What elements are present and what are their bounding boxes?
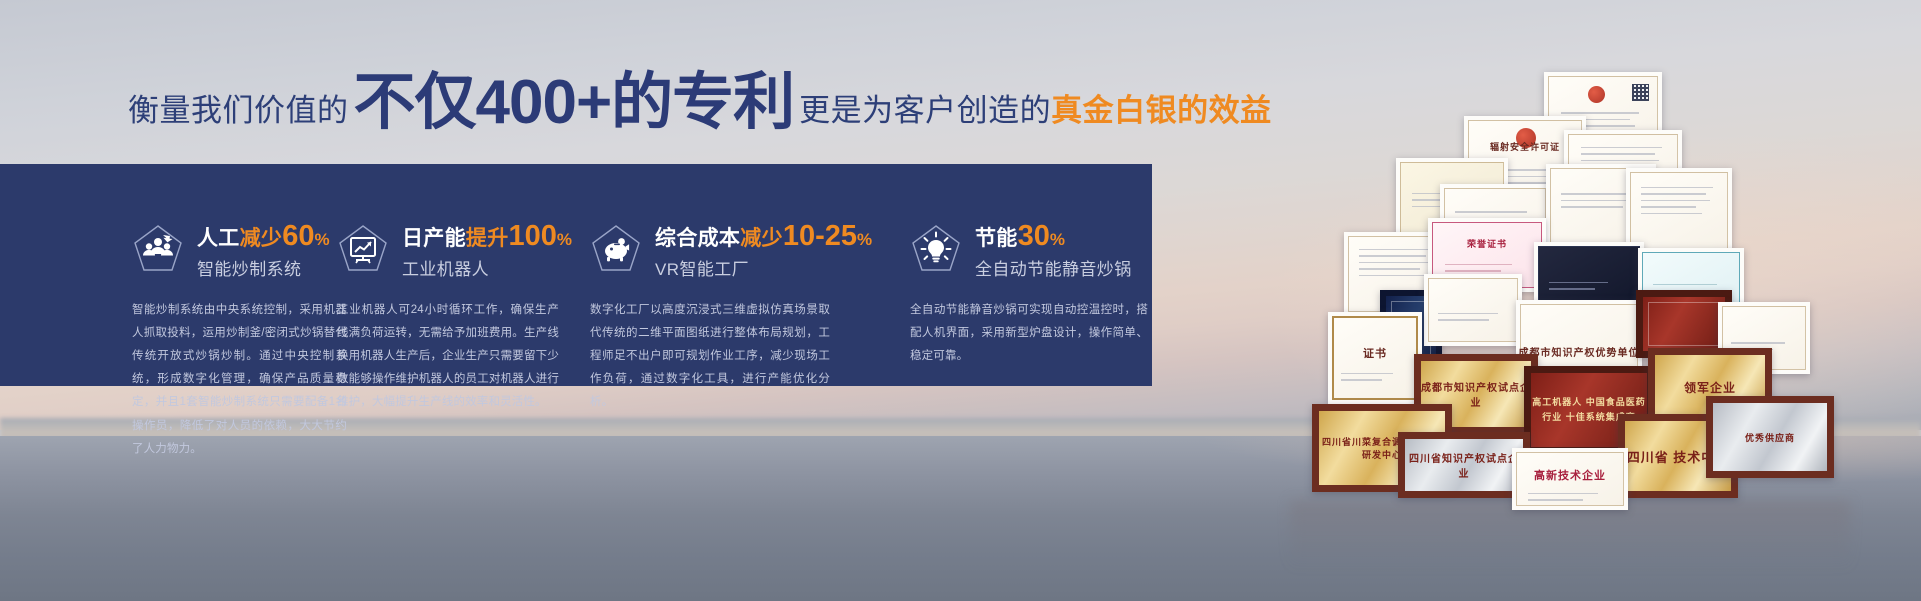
certificate-item: 证书 [1328, 312, 1422, 404]
feature-card-text: 日产能提升100% 工业机器人 [402, 218, 572, 281]
feature-title-mid: 减少 [740, 227, 783, 250]
feature-title-number: 10-25 [783, 220, 857, 252]
headline-highlight: 真金白银的效益 [1051, 85, 1272, 130]
feature-title-main: 人工 [197, 227, 240, 250]
award-plaque: 四川省知识产权试点企业 [1398, 432, 1530, 498]
feature-card-header: 综合成本减少10-25% VR智能工厂 [590, 218, 870, 281]
certificate-wall-reflection [1290, 500, 1850, 570]
feature-card-list: 人工减少60% 智能炒制系统 智能炒制系统由中央系统控制，采用机器人抓取投料，运… [0, 164, 1152, 386]
feature-title-main: 日产能 [402, 227, 466, 250]
feature-card: 节能30% 全自动节能静音炒锅 全自动节能静音炒锅可实现自动控温控时，搭配人机界… [870, 218, 1152, 386]
feature-card-body: 全自动节能静音炒锅可实现自动控温控时，搭配人机界面，采用新型炉盘设计，操作简单、… [910, 299, 1148, 369]
certificate-wall: 辐射安全许可证 荣誉证书 [1228, 36, 1921, 506]
certificate-title: 荣誉证书 [1428, 237, 1546, 250]
feature-card-subtitle: VR智能工厂 [655, 259, 872, 280]
headline-middle: 更是为客户创造的 [799, 85, 1051, 130]
certificate-title: 证书 [1328, 345, 1422, 361]
certificate-item: 高新技术企业 [1512, 448, 1628, 510]
piggy-bank-pentagon-icon [590, 223, 642, 275]
feature-title-mid: 减少 [240, 227, 283, 250]
feature-card-body: 数字化工厂以高度沉浸式三维虚拟仿真场景取代传统的二维平面图纸进行整体布局规划，工… [590, 299, 830, 415]
feature-card: 综合成本减少10-25% VR智能工厂 数字化工厂以高度沉浸式三维虚拟仿真场景取… [565, 218, 870, 386]
feature-card-subtitle: 全自动节能静音炒锅 [975, 259, 1132, 280]
feature-title-mid: 提升 [466, 227, 509, 250]
feature-card-header: 节能30% 全自动节能静音炒锅 [910, 218, 1152, 281]
feature-card-text: 节能30% 全自动节能静音炒锅 [975, 218, 1132, 281]
feature-title-main: 综合成本 [655, 227, 740, 250]
feature-title-number: 30 [1018, 220, 1050, 252]
team-pentagon-icon [132, 223, 184, 275]
feature-card-title: 节能30% [975, 232, 1065, 249]
certificate-title: 高新技术企业 [1512, 467, 1628, 483]
lightbulb-pentagon-icon [910, 223, 962, 275]
feature-title-number: 100 [509, 220, 557, 252]
feature-title-main: 节能 [975, 227, 1018, 250]
award-plaque: 优秀供应商 [1706, 396, 1834, 478]
chart-board-pentagon-icon [337, 223, 389, 275]
feature-title-percent: % [1050, 230, 1065, 249]
feature-card-header: 人工减少60% 智能炒制系统 [132, 218, 300, 281]
headline-lead: 衡量我们价值的 [128, 85, 349, 130]
certificate-item [1424, 274, 1522, 346]
feature-card-title: 综合成本减少10-25% [655, 232, 872, 249]
headline-emphasis: 不仅400+的专利 [354, 74, 795, 133]
feature-card-title: 日产能提升100% [402, 232, 572, 249]
feature-card: 人工减少60% 智能炒制系统 智能炒制系统由中央系统控制，采用机器人抓取投料，运… [0, 218, 300, 386]
feature-card: 日产能提升100% 工业机器人 工业机器人可24小时循环工作，确保生产线满负荷运… [300, 218, 565, 386]
feature-card-header: 日产能提升100% 工业机器人 [337, 218, 565, 281]
feature-panel: 人工减少60% 智能炒制系统 智能炒制系统由中央系统控制，采用机器人抓取投料，运… [0, 164, 1152, 386]
page-headline: 衡量我们价值的 不仅400+的专利 更是为客户创造的 真金白银的效益 [128, 72, 1272, 131]
feature-card-subtitle: 工业机器人 [402, 259, 572, 280]
feature-card-body: 工业机器人可24小时循环工作，确保生产线满负荷运转，无需给予加班费用。生产线换用… [337, 299, 559, 415]
feature-card-text: 综合成本减少10-25% VR智能工厂 [655, 218, 872, 281]
